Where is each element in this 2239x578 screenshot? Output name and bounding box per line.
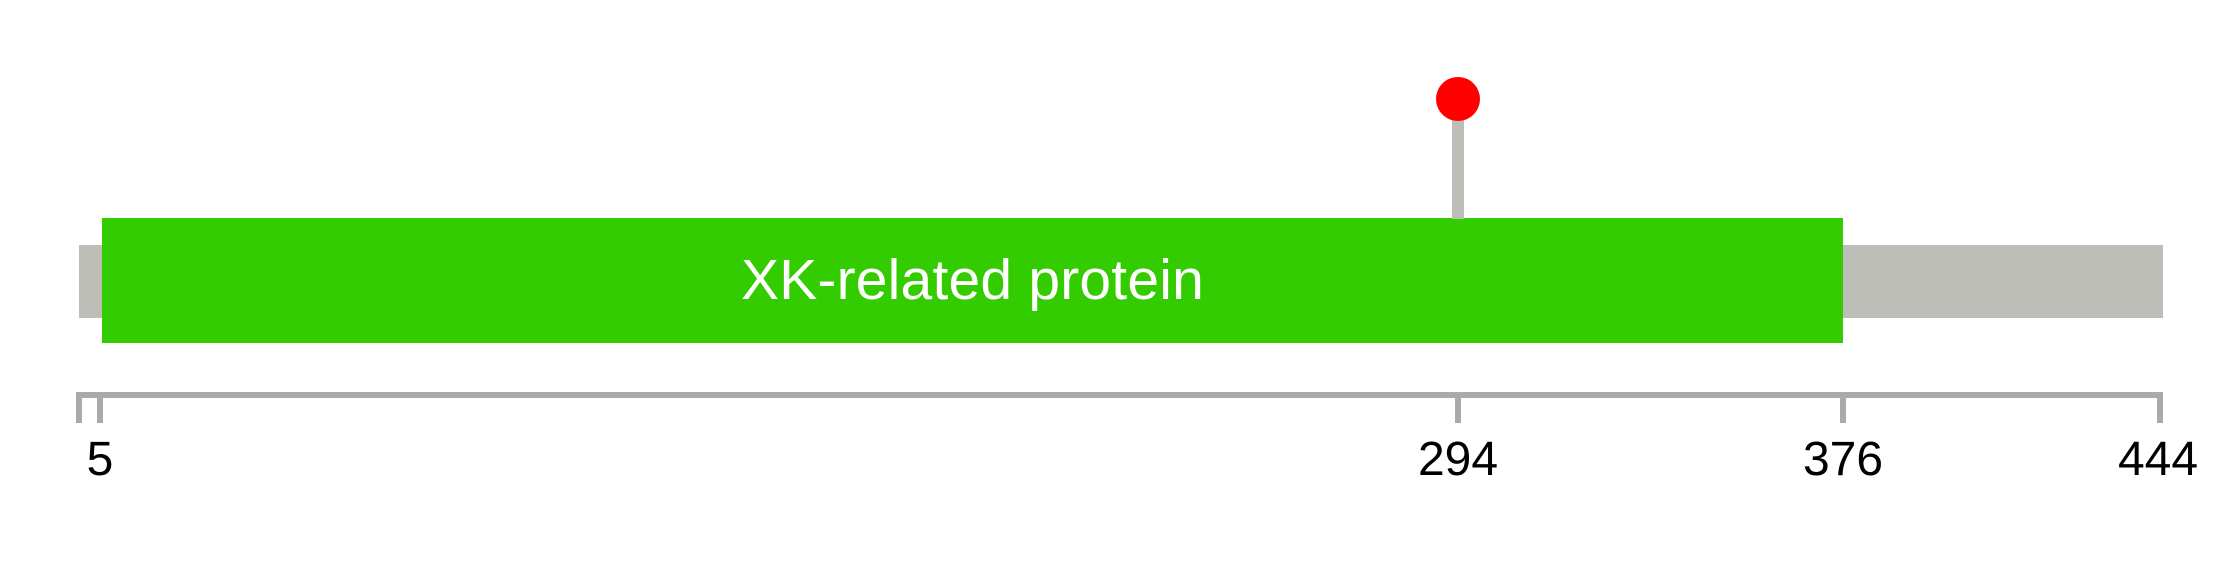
axis-tick-444 — [2157, 392, 2163, 423]
axis-tick-376 — [1840, 392, 1846, 423]
axis-tick-5 — [97, 392, 103, 423]
domain-xk-related-protein[interactable]: XK-related protein — [102, 218, 1843, 343]
axis-label-376: 376 — [1803, 436, 1883, 484]
axis-label-444: 444 — [2118, 436, 2198, 484]
axis-label-294: 294 — [1418, 436, 1498, 484]
protein-lollipop-diagram: XK-related protein 5 294 376 444 — [0, 0, 2239, 578]
axis-line — [76, 392, 2163, 398]
axis-label-5: 5 — [87, 436, 114, 484]
axis-tick-294 — [1455, 392, 1461, 423]
mutation-marker-head[interactable] — [1436, 77, 1480, 121]
domain-label: XK-related protein — [741, 252, 1204, 309]
axis-tick-start-cap — [76, 392, 82, 423]
